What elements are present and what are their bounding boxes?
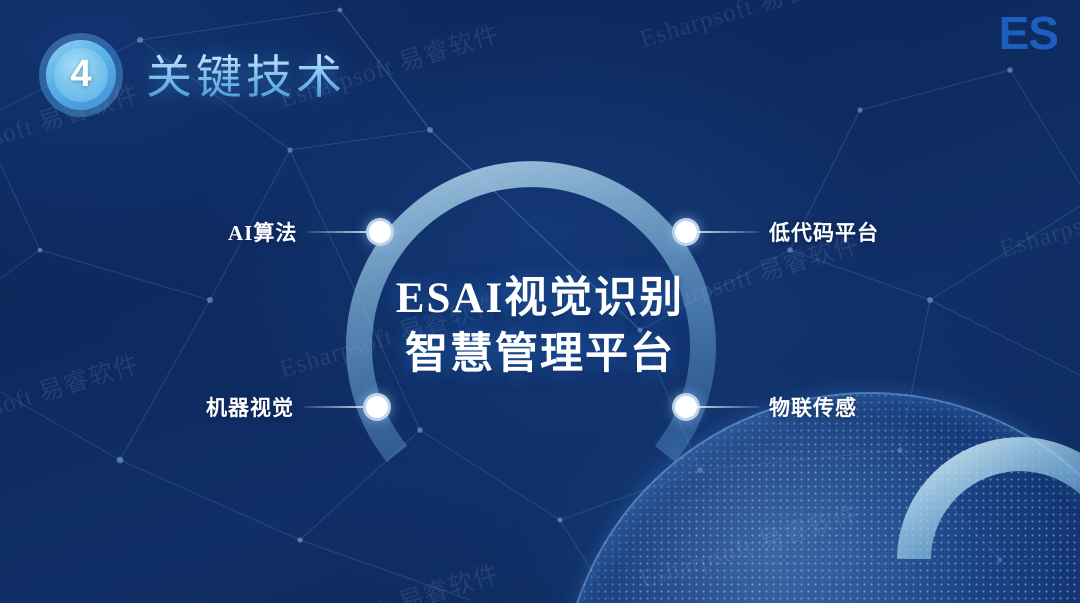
section-title: 关键技术 bbox=[146, 41, 346, 107]
callout-node-dot bbox=[366, 218, 394, 246]
headline-block: ESAI视觉识别 智慧管理平台 bbox=[0, 271, 1080, 383]
section-number-badge: 4 bbox=[39, 33, 123, 117]
watermark-text: Esharpsoft 易睿软件 bbox=[995, 164, 1080, 265]
callout-label-machine-vision: 机器视觉 bbox=[206, 392, 294, 422]
callout-connector-line bbox=[307, 231, 369, 233]
callout-label-ai-algorithm: AI算法 bbox=[228, 217, 297, 247]
callout-machine-vision[interactable]: 机器视觉 bbox=[206, 392, 391, 422]
callout-connector-line bbox=[697, 406, 759, 408]
headline-line-1: ESAI视觉识别 bbox=[0, 271, 1080, 327]
slide-canvas: Esharpsoft 易睿软件 Esharpsoft 易睿软件 Esharpso… bbox=[0, 0, 1080, 603]
watermark-text: Esharpsoft 易睿软件 bbox=[635, 0, 864, 55]
watermark-text: Esharpsoft 易睿软件 bbox=[275, 284, 504, 385]
headline-line-2: 智慧管理平台 bbox=[0, 327, 1080, 383]
watermark-text: Esharpsoft 易睿软件 bbox=[275, 554, 504, 603]
es-logo: ES bbox=[999, 10, 1058, 56]
callout-label-low-code: 低代码平台 bbox=[769, 217, 879, 247]
center-ring-decoration bbox=[331, 118, 731, 518]
section-number: 4 bbox=[70, 55, 91, 95]
callout-ai-algorithm[interactable]: AI算法 bbox=[228, 217, 394, 247]
callout-connector-line bbox=[304, 406, 366, 408]
callout-label-iot-sensing: 物联传感 bbox=[769, 392, 857, 422]
callout-node-dot bbox=[363, 393, 391, 421]
globe-graphic bbox=[560, 392, 1080, 603]
badge-inner-disc: 4 bbox=[54, 48, 108, 102]
callout-node-dot bbox=[672, 218, 700, 246]
callout-node-dot bbox=[672, 393, 700, 421]
callout-iot-sensing[interactable]: 物联传感 bbox=[672, 392, 857, 422]
watermark-text: Esharpsoft 易睿软件 bbox=[0, 344, 143, 445]
callout-low-code[interactable]: 低代码平台 bbox=[672, 217, 879, 247]
callout-connector-line bbox=[697, 231, 759, 233]
